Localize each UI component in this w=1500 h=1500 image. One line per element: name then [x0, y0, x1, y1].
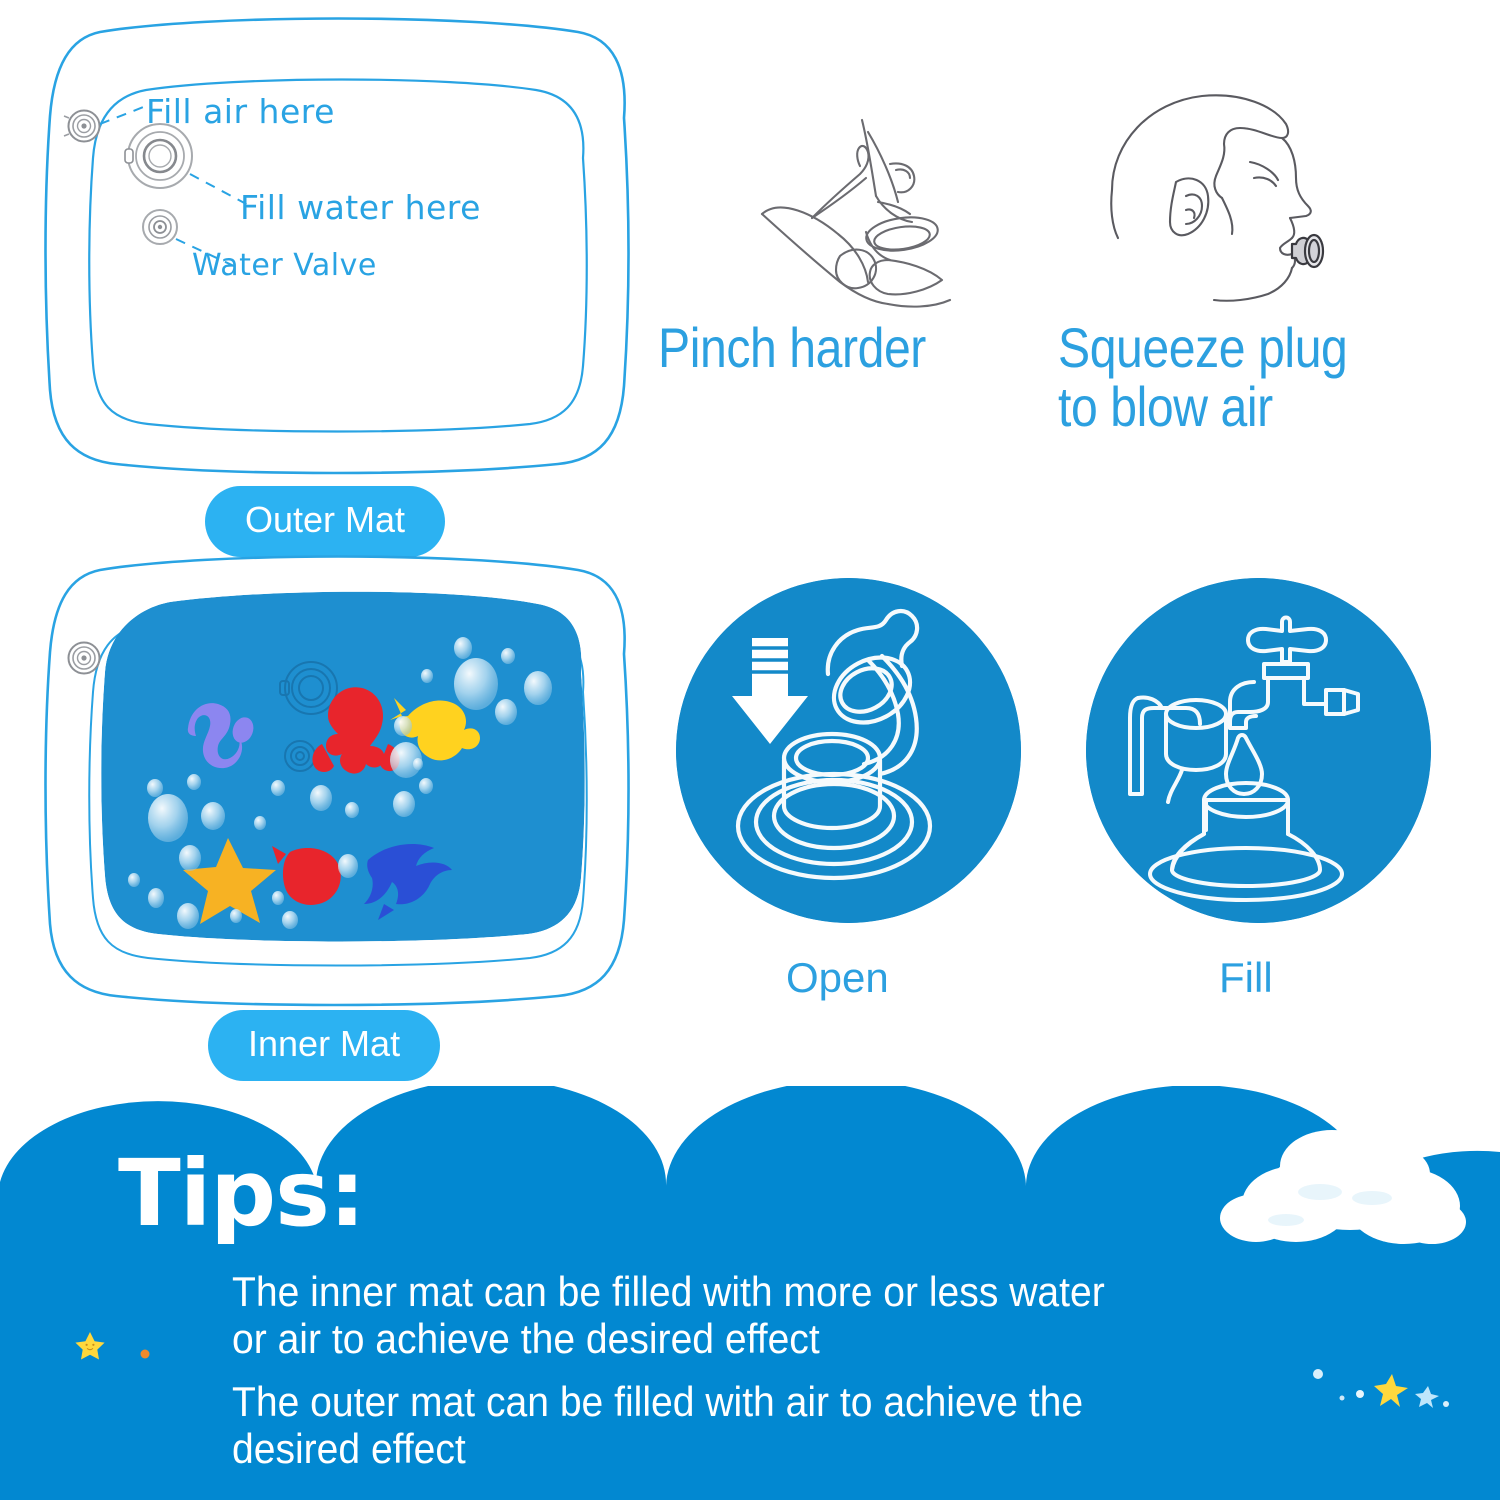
label-inner-mat: Inner Mat: [208, 1010, 440, 1081]
tips-title: Tips:: [118, 1148, 365, 1240]
air-valve-icon: [64, 111, 100, 142]
caption-pinch-harder: Pinch harder: [658, 318, 926, 377]
caption-squeeze-plug-to-blow-air: Squeeze plug to blow air: [1058, 318, 1347, 437]
hand-pinching-plug-sketch: [760, 86, 1030, 326]
faucet-dripping-into-valve-icon: [1086, 578, 1431, 923]
callout-fill-air-here: Fill air here: [146, 92, 335, 131]
air-valve-icon: [69, 643, 100, 674]
water-fill-port-icon: [125, 124, 192, 188]
outer-mat-diagram: [38, 8, 638, 478]
tips-section: Tips: The inner mat can be filled with m…: [0, 1086, 1500, 1500]
outer-mat-outline: [38, 8, 638, 478]
instruction-sheet: Fill air here Fill water here Water Valv…: [0, 0, 1500, 1500]
caption-open: Open: [786, 954, 889, 1002]
caption-fill: Fill: [1219, 954, 1273, 1002]
inner-mat-graphic: [38, 548, 638, 1008]
callout-fill-water-here: Fill water here: [240, 188, 481, 227]
tip-line-inner-mat: The inner mat can be filled with more or…: [232, 1268, 1236, 1362]
head-profile-blowing-into-plug-sketch: [1090, 86, 1380, 326]
inner-mat-diagram: [38, 548, 638, 1008]
valve-cap-open-with-down-arrow-icon: [676, 578, 1021, 923]
dot-decoration: [141, 1350, 150, 1359]
water-valve-icon: [143, 210, 177, 244]
label-outer-mat: Outer Mat: [205, 486, 445, 557]
callout-water-valve: Water Valve: [192, 248, 377, 283]
tip-line-outer-mat: The outer mat can be filled with air to …: [232, 1378, 1236, 1472]
